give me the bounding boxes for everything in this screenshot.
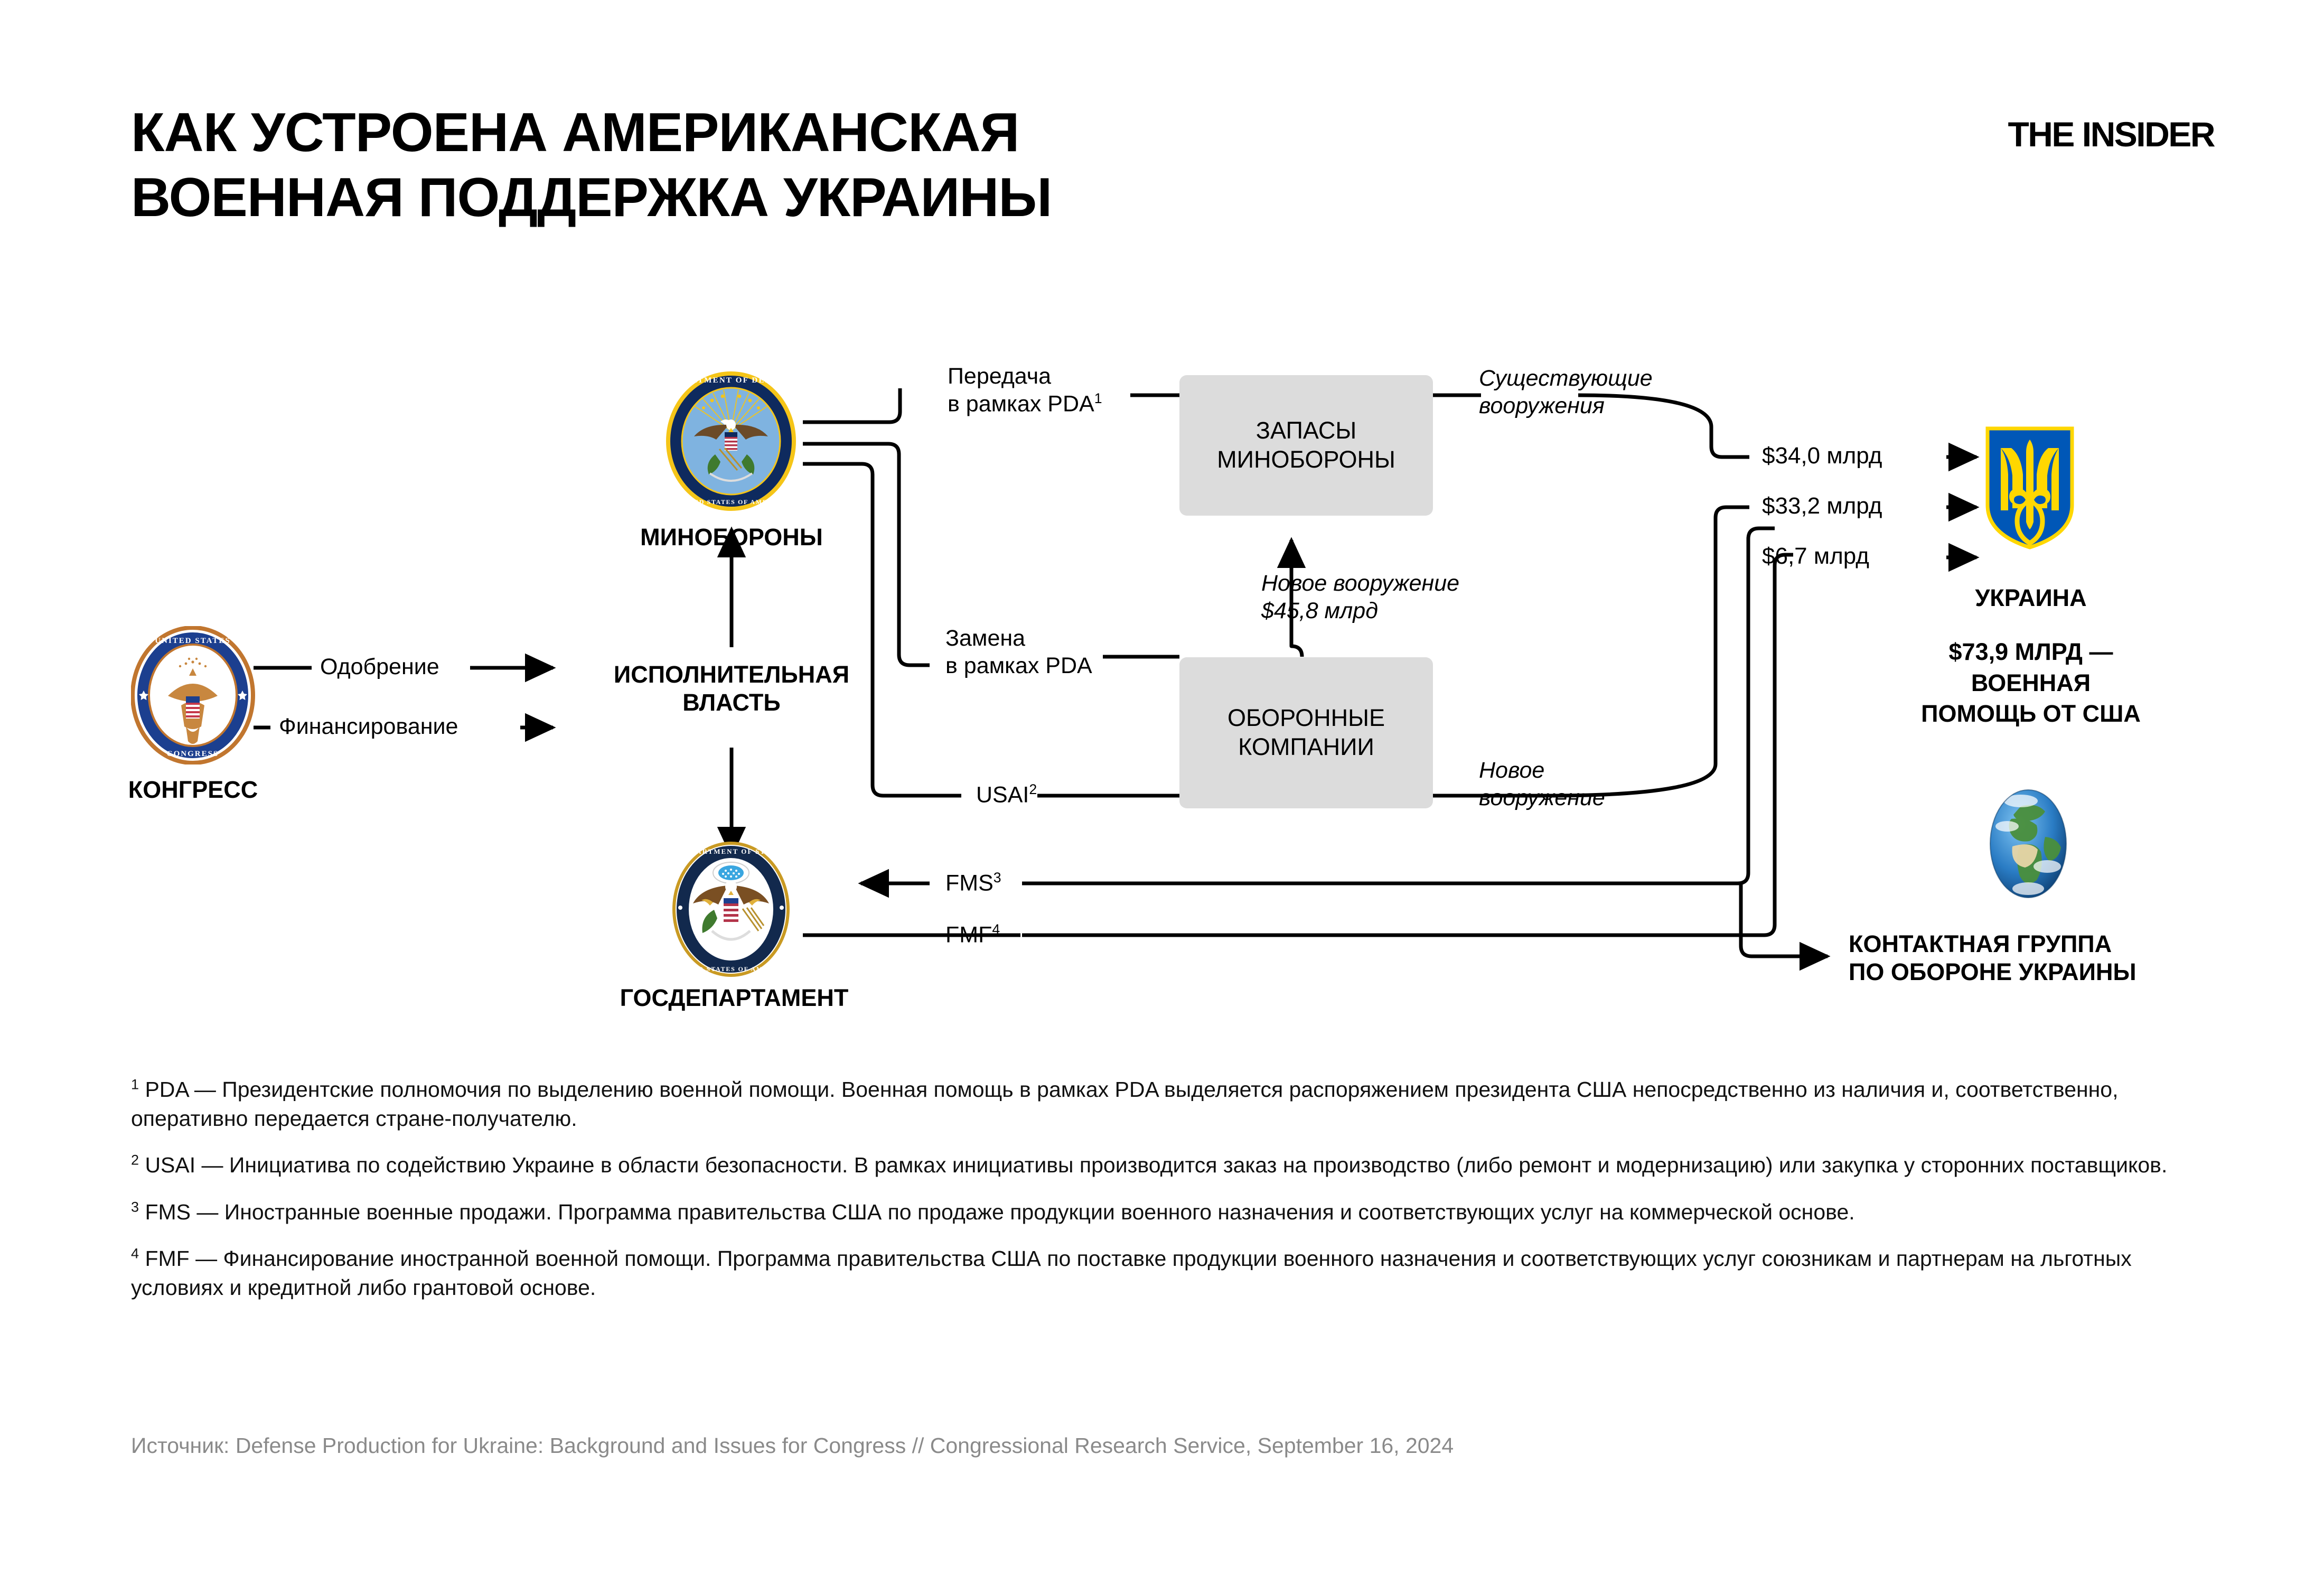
- page-title-line1: КАК УСТРОЕНА АМЕРИКАНСКАЯ: [131, 100, 1399, 165]
- footnote-4-marker: 4: [131, 1245, 139, 1261]
- connector-lines: [0, 0, 2324, 1585]
- svg-text:UNITED STATES OF AMERICA: UNITED STATES OF AMERICA: [675, 498, 788, 506]
- total-aid-line2: ВОЕННАЯ: [1880, 668, 2181, 699]
- edge-label-fms: FMS3: [945, 869, 1001, 897]
- footnote-ref-1: 1: [1094, 390, 1102, 406]
- edge-label-pda-transfer: Передача в рамках PDA1: [948, 362, 1102, 418]
- footnote-2: 2 USAI — Инициатива по содействию Украин…: [131, 1151, 2191, 1180]
- node-label-dod: МИНОБОРОНЫ: [607, 523, 856, 551]
- page-title-line2: ВОЕННАЯ ПОДДЕРЖКА УКРАИНЫ: [131, 165, 1399, 230]
- state-department-seal: DEPARTMENT OF STATE UNITED STATES OF AME…: [671, 840, 791, 978]
- footnote-1-text: PDA — Президентские полномочия по выделе…: [131, 1077, 2119, 1131]
- edge-label-pda-replacement-line1: Замена: [945, 624, 1092, 652]
- page-title: КАК УСТРОЕНА АМЕРИКАНСКАЯ ВОЕННАЯ ПОДДЕР…: [131, 100, 1399, 230]
- node-label-contact-group: КОНТАКТНАЯ ГРУППА ПО ОБОРОНЕ УКРАИНЫ: [1849, 930, 2218, 986]
- globe-icon: [1980, 788, 2077, 899]
- node-label-state-department: ГОСДЕПАРТАМЕНТ: [586, 984, 882, 1012]
- svg-text:CONGRESS: CONGRESS: [167, 750, 219, 758]
- wire-dod-usai: [803, 464, 961, 796]
- box-stockpiles-line1: ЗАПАСЫ: [1217, 416, 1395, 445]
- footnote-ref-3: 3: [994, 870, 1001, 885]
- edge-label-new-weapons-line2: вооружение: [1479, 784, 1605, 812]
- svg-text:DEPARTMENT OF STATE: DEPARTMENT OF STATE: [680, 847, 782, 855]
- node-label-ukraine: УКРАИНА: [1923, 584, 2139, 612]
- wire-to-amount-33: [1432, 507, 1749, 796]
- edge-label-fmf: FMF4: [945, 921, 1000, 949]
- source-line: Источник: Defense Production for Ukraine…: [131, 1433, 1454, 1458]
- edge-label-usai: USAI2: [976, 781, 1037, 809]
- total-aid-line1: $73,9 МЛРД —: [1880, 637, 2181, 668]
- amount-existing-weapons: $34,0 млрд: [1762, 443, 1882, 469]
- edge-label-new-weapons: Новое вооружение: [1479, 757, 1605, 812]
- node-label-contact-group-line2: ПО ОБОРОНЕ УКРАИНЫ: [1849, 958, 2218, 986]
- footnotes-block: 1 PDA — Президентские полномочия по выде…: [131, 1075, 2191, 1320]
- footnote-3: 3 FMS — Иностранные военные продажи. Про…: [131, 1198, 2191, 1227]
- footnote-ref-2: 2: [1029, 781, 1037, 797]
- brand-logo: THE INSIDER: [2008, 114, 2214, 154]
- congress-seal: UNITED STATES CONGRESS: [131, 626, 255, 764]
- edge-label-existing-weapons-line2: вооружения: [1479, 392, 1653, 419]
- infographic-canvas: КАК УСТРОЕНА АМЕРИКАНСКАЯ ВОЕННАЯ ПОДДЕР…: [0, 0, 2324, 1585]
- edge-label-pda-replacement: Замена в рамках PDA: [945, 624, 1092, 680]
- footnote-4: 4 FMF — Финансирование иностранной военн…: [131, 1244, 2191, 1302]
- box-defense-companies-line1: ОБОРОННЫЕ: [1227, 704, 1385, 733]
- footnote-4-text: FMF — Финансирование иностранной военной…: [131, 1246, 2132, 1300]
- footnote-ref-4: 4: [992, 921, 1000, 937]
- wire-dod-pda-transfer: [803, 388, 900, 422]
- total-aid-summary: $73,9 МЛРД — ВОЕННАЯ ПОМОЩЬ ОТ США: [1880, 637, 2181, 730]
- node-label-executive: ИСПОЛНИТЕЛЬНАЯ ВЛАСТЬ: [578, 660, 885, 716]
- svg-text:DEPARTMENT OF DEFENSE: DEPARTMENT OF DEFENSE: [666, 376, 796, 385]
- box-defense-companies-line2: КОМПАНИИ: [1227, 733, 1385, 762]
- edge-label-new-weapons-value: Новое вооружение $45,8 млрд: [1261, 570, 1459, 625]
- node-label-executive-line1: ИСПОЛНИТЕЛЬНАЯ: [578, 660, 885, 688]
- edge-label-existing-weapons: Существующие вооружения: [1479, 365, 1653, 420]
- node-label-executive-line2: ВЛАСТЬ: [578, 688, 885, 716]
- dod-seal: DEPARTMENT OF DEFENSE UNITED STATES OF A…: [664, 370, 798, 512]
- footnote-3-marker: 3: [131, 1199, 139, 1215]
- box-stockpiles-line2: МИНОБОРОНЫ: [1217, 445, 1395, 474]
- edge-label-funding: Финансирование: [279, 713, 458, 740]
- footnote-2-text: USAI — Инициатива по содействию Украине …: [139, 1153, 2167, 1177]
- wire-dod-pda-replacement: [803, 444, 930, 665]
- edge-label-new-weapons-line1: Новое: [1479, 757, 1605, 784]
- amount-new-weapons: $33,2 млрд: [1762, 493, 1882, 519]
- footnote-1: 1 PDA — Президентские полномочия по выде…: [131, 1075, 2191, 1133]
- edge-label-new-weapons-value-line1: Новое вооружение: [1261, 570, 1459, 597]
- edge-label-existing-weapons-line1: Существующие: [1479, 365, 1653, 392]
- node-label-congress: КОНГРЕСС: [105, 776, 282, 804]
- svg-text:UNITED STATES: UNITED STATES: [155, 637, 230, 645]
- svg-text:UNITED STATES OF AMERICA: UNITED STATES OF AMERICA: [673, 965, 788, 973]
- box-stockpiles: ЗАПАСЫ МИНОБОРОНЫ: [1179, 375, 1433, 516]
- footnote-1-marker: 1: [131, 1076, 139, 1092]
- wire-to-contact-group: [1741, 883, 1828, 956]
- box-defense-companies: ОБОРОННЫЕ КОМПАНИИ: [1179, 657, 1433, 808]
- ukraine-coat-of-arms: [1985, 426, 2075, 550]
- footnote-3-text: FMS — Иностранные военные продажи. Прогр…: [139, 1200, 1855, 1224]
- edge-label-pda-replacement-line2: в рамках PDA: [945, 652, 1092, 679]
- edge-label-new-weapons-value-line2: $45,8 млрд: [1261, 597, 1459, 624]
- edge-label-pda-transfer-line2: в рамках PDA1: [948, 390, 1102, 418]
- amount-fms-fmf: $6,7 млрд: [1762, 543, 1869, 570]
- edge-label-approval: Одобрение: [320, 653, 439, 680]
- edge-label-pda-transfer-line1: Передача: [948, 362, 1102, 390]
- footnote-2-marker: 2: [131, 1152, 139, 1168]
- node-label-contact-group-line1: КОНТАКТНАЯ ГРУППА: [1849, 930, 2218, 958]
- total-aid-line3: ПОМОЩЬ ОТ США: [1880, 698, 2181, 730]
